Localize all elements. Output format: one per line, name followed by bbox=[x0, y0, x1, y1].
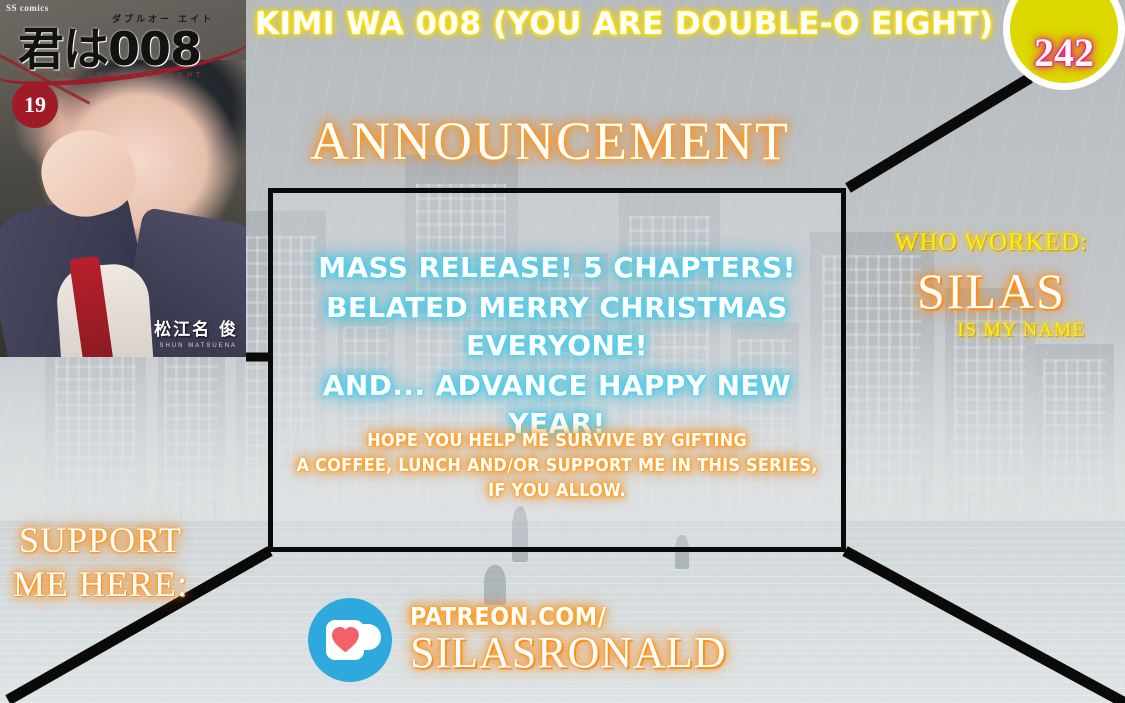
support-label: SUPPORT ME HERE: bbox=[8, 518, 193, 606]
credits-block: WHO WORKED: SILAS IS MY NAME bbox=[858, 228, 1125, 343]
announcement-heading: ANNOUNCEMENT bbox=[250, 110, 850, 172]
series-title: KIMI WA 008 (YOU ARE DOUBLE-O EIGHT) bbox=[255, 5, 875, 43]
patreon-domain: PATREON.COM/ bbox=[410, 603, 727, 630]
cover-author-romaji: SHUN MATSUENA bbox=[159, 343, 237, 349]
announcement-box: MASS RELEASE! 5 CHAPTERS! BELATED MERRY … bbox=[268, 188, 846, 552]
cover-title-romaji: YOU ARE DOUBLE-O EIGHT bbox=[22, 72, 204, 79]
cover-author-japanese: 松江名 俊 bbox=[154, 322, 238, 339]
credits-name: SILAS bbox=[858, 263, 1125, 319]
patreon-link[interactable]: PATREON.COM/ SILASRONALD bbox=[308, 598, 727, 682]
chapter-number: 242 bbox=[1010, 33, 1118, 73]
patreon-url[interactable]: PATREON.COM/ SILASRONALD bbox=[410, 603, 727, 677]
announcement-sub-line: IF YOU ALLOW. bbox=[273, 478, 841, 503]
patreon-cup-heart-icon[interactable] bbox=[308, 598, 392, 682]
volume-cover-thumbnail[interactable]: SS comics ダブルオー エイト 君は008 YOU ARE DOUBLE… bbox=[0, 0, 246, 357]
support-label-line2: ME HERE: bbox=[8, 562, 193, 606]
credits-tagline: IS MY NAME bbox=[858, 317, 1125, 343]
announcement-main-line: MASS RELEASE! 5 CHAPTERS! bbox=[273, 248, 841, 288]
credits-label: WHO WORKED: bbox=[858, 228, 1125, 258]
announcement-main-message: MASS RELEASE! 5 CHAPTERS! BELATED MERRY … bbox=[273, 248, 841, 444]
announcement-main-line: BELATED MERRY CHRISTMAS EVERYONE! bbox=[273, 288, 841, 366]
cover-publisher-logo: SS comics bbox=[6, 4, 49, 13]
patreon-username: SILASRONALD bbox=[410, 629, 727, 677]
announcement-sub-line: HOPE YOU HELP ME SURVIVE BY GIFTING bbox=[273, 428, 841, 453]
announcement-sub-message: HOPE YOU HELP ME SURVIVE BY GIFTING A CO… bbox=[273, 428, 841, 503]
cover-volume-number: 19 bbox=[12, 82, 58, 128]
support-label-line1: SUPPORT bbox=[8, 518, 193, 562]
announcement-sub-line: A COFFEE, LUNCH AND/OR SUPPORT ME IN THI… bbox=[273, 453, 841, 478]
